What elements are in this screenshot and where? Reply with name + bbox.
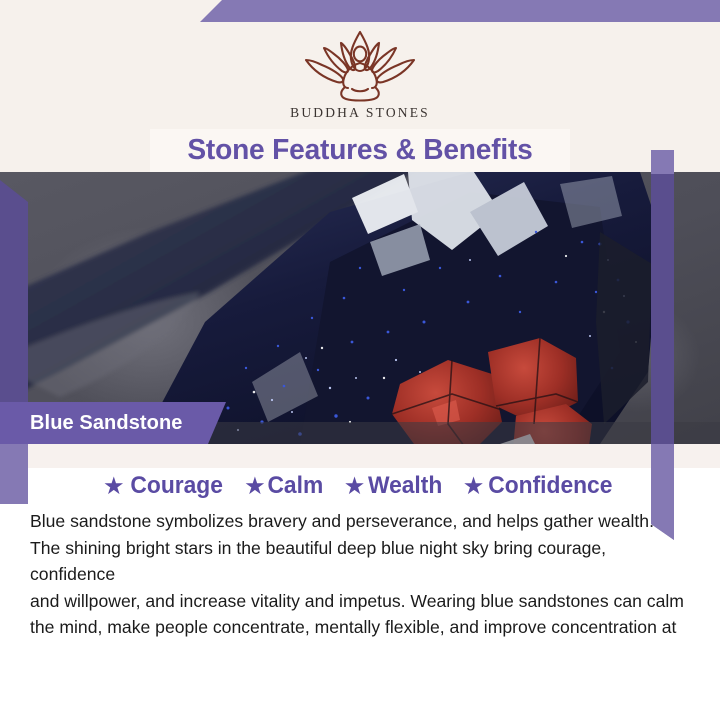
feature-item-confidence: ★ Confidence: [464, 472, 616, 500]
feature-label: Courage: [131, 472, 223, 500]
feature-label: Wealth: [368, 472, 442, 500]
page-title-plaque: Stone Features & Benefits: [150, 129, 570, 172]
page-title: Stone Features & Benefits: [187, 134, 532, 167]
product-info-page: BUDDHA STONES Stone Features & Benefits: [0, 0, 720, 720]
bottom-spacer: [0, 640, 720, 720]
feature-label: Calm: [268, 472, 324, 500]
feature-item-courage: ★ Courage: [104, 472, 225, 500]
separator-band: [0, 444, 720, 468]
stone-name-label: Blue Sandstone: [30, 412, 183, 435]
feature-item-calm: ★ Calm: [246, 472, 326, 500]
right-accent-rail-lower: [651, 444, 674, 540]
feature-item-wealth: ★ Wealth: [345, 472, 444, 500]
brand-name: BUDDHA STONES: [290, 105, 430, 121]
left-accent-rail-lower: [0, 444, 28, 504]
star-icon: ★: [464, 476, 483, 497]
feature-label: Confidence: [488, 472, 612, 500]
right-accent-rail-top: [651, 150, 674, 174]
star-icon: ★: [104, 476, 123, 497]
stone-name-banner: Blue Sandstone: [0, 402, 226, 444]
top-accent-banner: [200, 0, 720, 22]
lotus-meditation-icon: [280, 26, 440, 104]
header-section: BUDDHA STONES Stone Features & Benefits: [0, 0, 720, 172]
star-icon: ★: [345, 476, 364, 497]
feature-list: ★ Courage ★ Calm ★ Wealth ★ Confidence: [0, 468, 720, 504]
star-icon: ★: [246, 476, 265, 497]
